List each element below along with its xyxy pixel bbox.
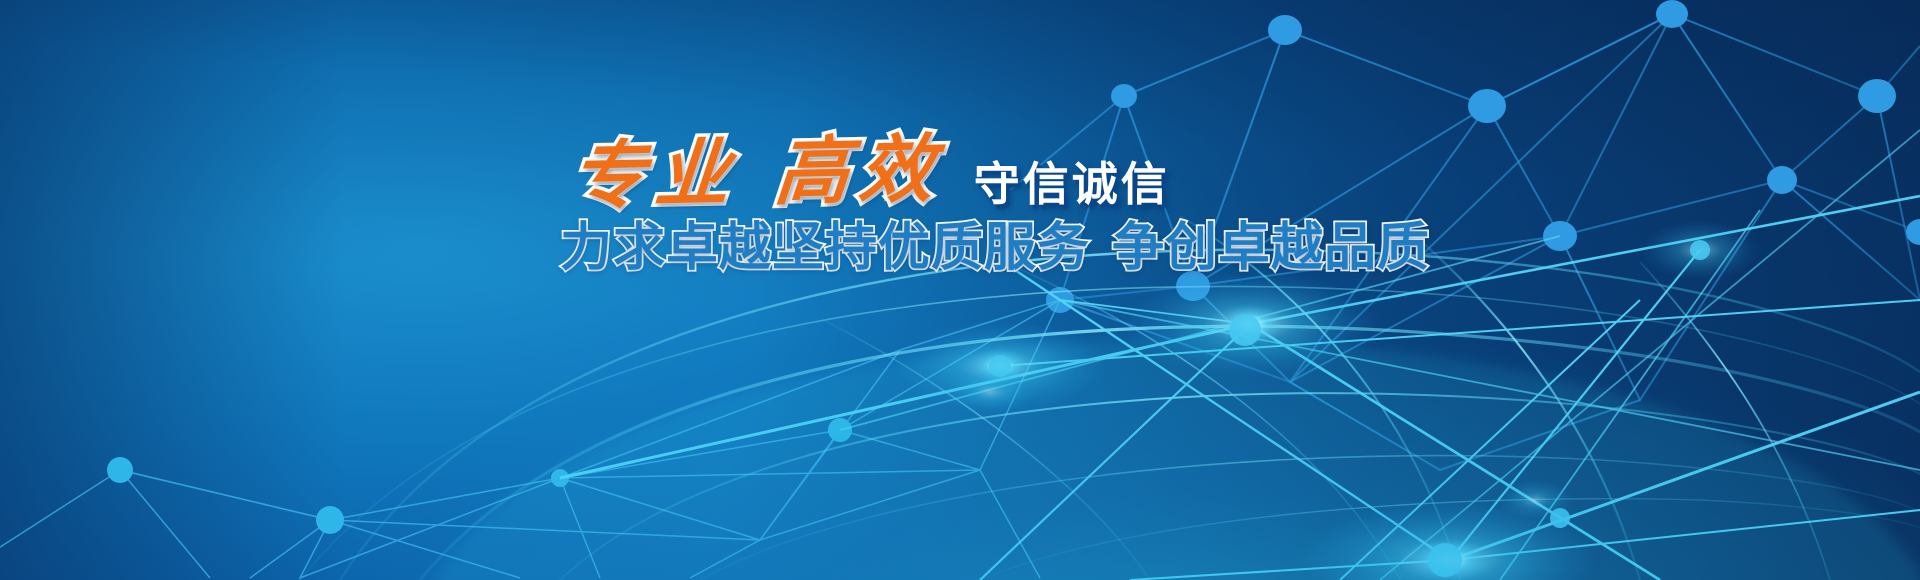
background-bottom-glow bbox=[0, 0, 1920, 580]
banner-hero: 专业 高效 守信诚信 力求卓越坚持优质服务争创卓越品质 bbox=[0, 0, 1920, 580]
